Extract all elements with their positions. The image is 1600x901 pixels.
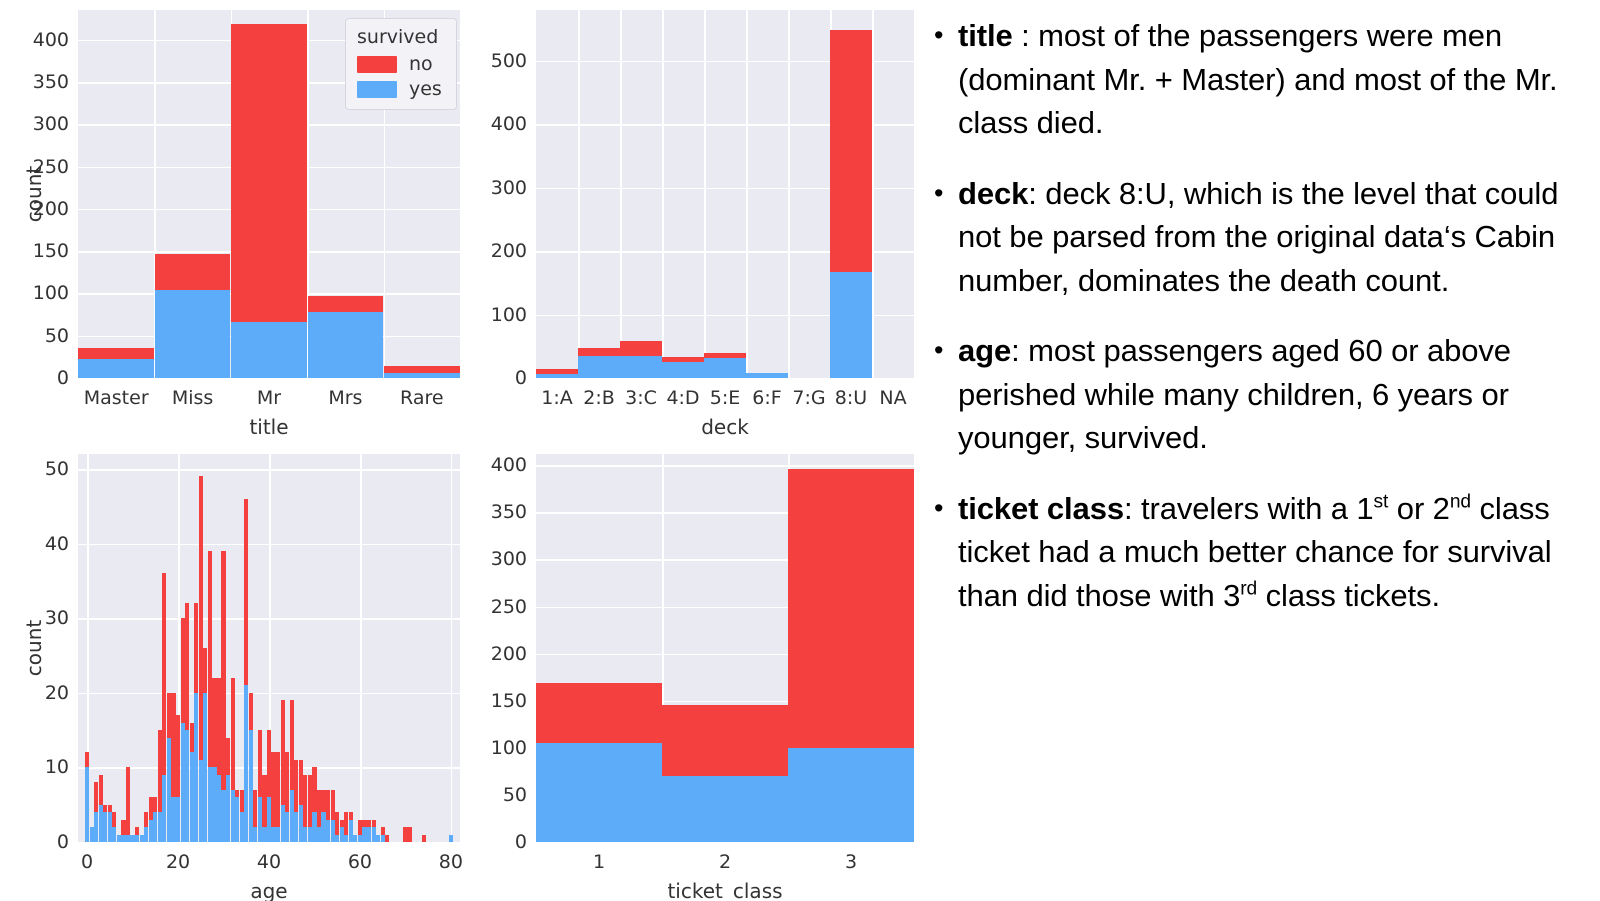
bar-segment-yes <box>384 373 460 378</box>
bar-segment-yes <box>244 685 248 842</box>
bar-segment-no <box>312 767 316 812</box>
bar-segment-no <box>208 551 212 767</box>
bar-segment-yes <box>126 835 130 842</box>
y-tick-label: 0 <box>57 831 69 853</box>
bar-segment-yes <box>231 790 235 842</box>
bar-segment-no <box>162 573 166 774</box>
bar-segment-yes <box>271 827 275 842</box>
bar-segment-yes <box>190 752 194 842</box>
bar-segment-no <box>704 353 746 358</box>
histogram-bar[interactable] <box>212 678 216 842</box>
histogram-bar[interactable] <box>153 797 157 842</box>
bar-segment-no <box>290 700 294 790</box>
bar-segment-no <box>190 723 194 753</box>
bar-segment-yes <box>199 760 203 842</box>
bar-ticket_class-2[interactable] <box>662 705 788 842</box>
bar-segment-yes <box>203 693 207 842</box>
bar-segment-yes <box>358 835 362 842</box>
bar-segment-yes <box>788 748 914 842</box>
bar-segment-no <box>662 705 788 776</box>
chart-panel-age: 01020304050020406080agecount <box>0 430 470 901</box>
histogram-bar[interactable] <box>344 812 348 842</box>
bar-segment-no <box>294 760 298 812</box>
bar-segment-yes <box>121 835 125 842</box>
bullet-text-title: title : most of the passengers were men … <box>958 14 1592 145</box>
histogram-bar[interactable] <box>140 835 144 842</box>
bar-segment-no <box>158 730 162 812</box>
bar-segment-no <box>662 357 704 362</box>
bar-segment-no <box>194 603 198 693</box>
histogram-bar[interactable] <box>121 820 125 842</box>
bar-segment-yes <box>704 358 746 378</box>
bar-segment-yes <box>303 827 307 842</box>
bar-segment-yes <box>90 827 94 842</box>
histogram-bar[interactable] <box>317 790 321 842</box>
bar-segment-yes <box>830 272 872 378</box>
y-tick-label: 0 <box>515 367 527 389</box>
histogram-bar[interactable] <box>349 812 353 842</box>
histogram-bar[interactable] <box>299 760 303 842</box>
bar-segment-yes <box>258 797 262 842</box>
histogram-bar[interactable] <box>267 730 271 842</box>
bar-segment-no <box>536 683 662 743</box>
x-tick-label: 3 <box>788 851 914 873</box>
bar-segment-no <box>321 790 325 812</box>
legend-swatch-no <box>357 56 397 73</box>
y-tick-label: 50 <box>503 784 527 806</box>
bar-segment-yes <box>226 775 230 842</box>
bar-segment-no <box>149 797 153 819</box>
y-tick-label: 300 <box>491 548 527 570</box>
histogram-bar[interactable] <box>181 618 185 842</box>
bar-segment-yes <box>326 820 330 842</box>
bar-deck-6:F[interactable] <box>746 373 788 378</box>
bar-segment-yes <box>99 805 103 842</box>
bullet-item-ticket-class: • ticket class: travelers with a 1st or … <box>930 487 1592 618</box>
bullet-sep-title: : <box>1013 18 1039 53</box>
x-tick-label: NA <box>872 387 914 409</box>
histogram-bar[interactable] <box>199 476 203 842</box>
legend-entry-yes[interactable]: yes <box>357 78 445 100</box>
histogram-bar[interactable] <box>303 775 307 842</box>
bar-segment-no <box>217 678 221 775</box>
gridline-vertical <box>662 10 664 378</box>
bar-segment-yes <box>449 835 453 842</box>
bar-segment-yes <box>176 797 180 842</box>
histogram-bar[interactable] <box>358 820 362 842</box>
plot-area-deck <box>536 10 914 378</box>
bar-segment-yes <box>108 812 112 842</box>
histogram-bar[interactable] <box>403 827 407 842</box>
x-tick-label: Rare <box>384 387 460 409</box>
bar-segment-no <box>344 812 348 834</box>
bullet-item-title: • title : most of the passengers were me… <box>930 14 1592 145</box>
bar-deck-4:D[interactable] <box>662 357 704 378</box>
gridline-vertical <box>578 10 580 378</box>
bar-segment-yes <box>290 790 294 842</box>
legend-survived: survived no yes <box>345 18 457 110</box>
bar-segment-no <box>203 648 207 693</box>
x-tick-label: 0 <box>57 851 117 873</box>
histogram-bar[interactable] <box>144 812 148 842</box>
bar-segment-no <box>231 24 307 322</box>
chart-panel-ticket-class: 050100150200250300350400123ticket_class <box>470 430 920 901</box>
bar-deck-3:C[interactable] <box>620 341 662 378</box>
histogram-bar[interactable] <box>162 573 166 842</box>
bar-segment-yes <box>144 827 148 842</box>
bar-segment-yes <box>181 723 185 842</box>
bar-segment-yes <box>372 827 376 842</box>
bar-segment-yes <box>620 356 662 378</box>
plot-area-age <box>78 454 460 842</box>
bar-segment-no <box>372 820 376 827</box>
legend-entry-no[interactable]: no <box>357 53 445 75</box>
bullet-marker-icon: • <box>930 172 958 215</box>
histogram-bar[interactable] <box>326 790 330 842</box>
histogram-bar[interactable] <box>231 678 235 842</box>
bar-segment-no <box>155 254 231 290</box>
bar-segment-no <box>422 835 426 842</box>
bar-segment-no <box>326 790 330 820</box>
y-tick-label: 100 <box>491 304 527 326</box>
histogram-bar[interactable] <box>362 820 366 842</box>
bar-segment-yes <box>85 767 89 842</box>
gridline-vertical <box>872 10 874 378</box>
x-tick-label: 3:C <box>620 387 662 409</box>
x-tick-label: 8:U <box>830 387 872 409</box>
y-tick-label: 20 <box>45 682 69 704</box>
histogram-bar[interactable] <box>340 820 344 842</box>
bar-segment-no <box>103 805 107 812</box>
histogram-bar[interactable] <box>176 715 180 842</box>
histogram-bar[interactable] <box>85 752 89 842</box>
y-tick-label: 300 <box>33 113 69 135</box>
bar-segment-yes <box>312 812 316 842</box>
histogram-bar[interactable] <box>240 790 244 842</box>
y-tick-label: 400 <box>491 454 527 476</box>
bar-segment-yes <box>158 812 162 842</box>
histogram-bar[interactable] <box>335 812 339 842</box>
bar-segment-yes <box>167 738 171 842</box>
bar-segment-no <box>167 693 171 738</box>
bar-deck-2:B[interactable] <box>578 348 620 378</box>
bar-title-Miss[interactable] <box>155 254 231 378</box>
bar-segment-no <box>258 730 262 797</box>
histogram-bar[interactable] <box>226 738 230 842</box>
y-tick-label: 200 <box>491 643 527 665</box>
bar-deck-5:E[interactable] <box>704 353 746 378</box>
histogram-bar[interactable] <box>167 693 171 842</box>
bar-segment-yes <box>362 827 366 842</box>
histogram-bar[interactable] <box>117 835 121 842</box>
bullet-sep-deck: : <box>1028 176 1045 211</box>
bar-segment-yes <box>249 730 253 842</box>
y-axis-label: count <box>22 164 46 224</box>
bar-deck-1:A[interactable] <box>536 368 578 378</box>
bar-segment-yes <box>149 820 153 842</box>
bar-segment-no <box>362 820 366 827</box>
histogram-bar[interactable] <box>185 603 189 842</box>
histogram-bar[interactable] <box>312 767 316 842</box>
bar-segment-yes <box>217 775 221 842</box>
bar-segment-yes <box>299 805 303 842</box>
bar-segment-yes <box>140 835 144 842</box>
bar-segment-no <box>126 767 130 834</box>
bar-segment-no <box>231 678 235 790</box>
bar-segment-no <box>99 775 103 805</box>
bar-segment-no <box>317 790 321 827</box>
bar-segment-no <box>144 812 148 827</box>
bar-segment-no <box>153 797 157 812</box>
x-tick-label: Master <box>78 387 154 409</box>
histogram-bar[interactable] <box>290 700 294 842</box>
bar-title-Rare[interactable] <box>384 366 460 378</box>
bar-segment-yes <box>185 730 189 842</box>
histogram-bar[interactable] <box>149 797 153 842</box>
y-axis-label: count <box>22 618 46 678</box>
bar-segment-no <box>358 820 362 835</box>
bar-segment-no <box>578 348 620 356</box>
histogram-bar[interactable] <box>203 648 207 842</box>
bar-segment-yes <box>317 827 321 842</box>
bar-segment-yes <box>536 743 662 842</box>
bar-segment-yes <box>117 835 121 842</box>
y-tick-label: 0 <box>515 831 527 853</box>
histogram-bar[interactable] <box>385 835 389 842</box>
bar-segment-no <box>244 499 248 686</box>
bar-segment-yes <box>367 827 371 842</box>
histogram-bar[interactable] <box>94 782 98 842</box>
histogram-bar[interactable] <box>235 790 239 842</box>
chart-panel-deck: 01002003004005001:A2:B3:C4:D5:E6:F7:G8:U… <box>470 0 920 430</box>
bar-segment-yes <box>331 820 335 842</box>
histogram-bar[interactable] <box>158 730 162 842</box>
bar-segment-no <box>620 341 662 356</box>
x-tick-label: Mrs <box>307 387 383 409</box>
histogram-bar[interactable] <box>190 723 194 842</box>
histogram-bar[interactable] <box>367 820 371 842</box>
histogram-bar[interactable] <box>285 752 289 842</box>
histogram-bar[interactable] <box>194 603 198 842</box>
bar-segment-no <box>226 738 230 775</box>
histogram-bar[interactable] <box>103 805 107 842</box>
bar-segment-no <box>331 790 335 820</box>
y-tick-label: 400 <box>491 113 527 135</box>
bar-deck-8:U[interactable] <box>830 30 872 378</box>
histogram-bar[interactable] <box>372 820 376 842</box>
histogram-bar[interactable] <box>217 678 221 842</box>
bar-segment-yes <box>335 835 339 842</box>
bullet-text-ticket-class: ticket class: travelers with a 1st or 2n… <box>958 487 1592 618</box>
bar-title-Master[interactable] <box>78 348 154 378</box>
histogram-bar[interactable] <box>262 775 266 842</box>
bar-segment-yes <box>253 827 257 842</box>
histogram-bar[interactable] <box>422 835 426 842</box>
bar-segment-yes <box>103 812 107 842</box>
bar-segment-yes <box>294 812 298 842</box>
x-tick-label: Mr <box>231 387 307 409</box>
bar-segment-no <box>308 296 384 312</box>
bullet-marker-icon: • <box>930 329 958 372</box>
bullet-item-age: • age: most passengers aged 60 or above … <box>930 329 1592 460</box>
y-tick-label: 150 <box>491 690 527 712</box>
bar-segment-yes <box>162 775 166 842</box>
histogram-bar[interactable] <box>130 835 134 842</box>
histogram-bar[interactable] <box>135 827 139 842</box>
histogram-bar[interactable] <box>449 835 453 842</box>
bar-segment-yes <box>746 373 788 378</box>
bar-segment-yes <box>267 797 271 842</box>
bar-segment-no <box>199 476 203 760</box>
bar-segment-no <box>121 820 125 835</box>
bar-segment-yes <box>308 827 312 842</box>
bar-segment-yes <box>381 835 385 842</box>
histogram-bar[interactable] <box>276 752 280 842</box>
bar-segment-yes <box>135 835 139 842</box>
histogram-bar[interactable] <box>408 827 412 842</box>
gridline-vertical <box>451 454 453 842</box>
y-tick-label: 0 <box>57 367 69 389</box>
x-tick-label: 6:F <box>746 387 788 409</box>
x-tick-label: 2:B <box>578 387 620 409</box>
bar-segment-no <box>271 752 275 827</box>
histogram-bar[interactable] <box>376 835 380 842</box>
x-tick-label: 60 <box>330 851 390 873</box>
x-tick-label: 40 <box>239 851 299 873</box>
histogram-bar[interactable] <box>99 775 103 842</box>
y-tick-label: 30 <box>45 607 69 629</box>
bullet-body-deck: deck 8:U, which is the level that could … <box>958 176 1558 298</box>
histogram-bar[interactable] <box>208 551 212 842</box>
bar-segment-yes <box>285 812 289 842</box>
bar-title-Mrs[interactable] <box>308 296 384 378</box>
bar-segment-no <box>171 693 175 797</box>
bullet-marker-icon: • <box>930 487 958 530</box>
y-tick-label: 350 <box>491 501 527 523</box>
bullet-body-title: most of the passengers were men (dominan… <box>958 18 1558 140</box>
bar-segment-yes <box>262 827 266 842</box>
bullet-sep-ticket-class: : <box>1124 491 1141 526</box>
histogram-bar[interactable] <box>308 775 312 842</box>
bar-segment-no <box>249 693 253 730</box>
legend-swatch-yes <box>357 81 397 98</box>
bar-segment-no <box>108 805 112 812</box>
bullet-body-age: most passengers aged 60 or above perishe… <box>958 333 1511 455</box>
bar-segment-no <box>235 790 239 797</box>
bar-segment-yes <box>240 812 244 842</box>
bar-segment-no <box>408 827 412 842</box>
gridline-horizontal <box>536 465 914 467</box>
gridline-vertical <box>620 10 622 378</box>
histogram-bar[interactable] <box>253 790 257 842</box>
bullet-text-deck: deck: deck 8:U, which is the level that … <box>958 172 1592 303</box>
histogram-bar[interactable] <box>271 752 275 842</box>
bar-segment-no <box>335 812 339 834</box>
histogram-bar[interactable] <box>221 551 225 842</box>
histogram-bar[interactable] <box>112 812 116 842</box>
bullet-lead-deck: deck <box>958 176 1028 211</box>
histogram-bar[interactable] <box>249 693 253 842</box>
bar-segment-yes <box>308 312 384 378</box>
bar-segment-no <box>135 827 139 834</box>
titanic-eda-figure: 050100150200250300350400MasterMissMrMrsR… <box>0 0 920 901</box>
bar-segment-no <box>185 603 189 730</box>
y-tick-label: 40 <box>45 533 69 555</box>
bar-segment-yes <box>662 362 704 378</box>
bar-segment-no <box>181 618 185 722</box>
bar-segment-no <box>536 369 578 374</box>
histogram-bar[interactable] <box>381 827 385 842</box>
bullet-lead-age: age <box>958 333 1011 368</box>
histogram-bar[interactable] <box>321 790 325 842</box>
y-tick-label: 10 <box>45 756 69 778</box>
y-tick-label: 100 <box>491 737 527 759</box>
y-tick-label: 200 <box>491 240 527 262</box>
bar-segment-no <box>299 760 303 805</box>
bar-segment-yes <box>208 767 212 842</box>
bar-segment-yes <box>276 827 280 842</box>
histogram-bar[interactable] <box>294 760 298 842</box>
bar-segment-yes <box>376 835 380 842</box>
bar-segment-no <box>403 827 407 842</box>
y-tick-label: 350 <box>33 71 69 93</box>
bar-title-Mr[interactable] <box>231 24 307 378</box>
bar-segment-no <box>830 30 872 272</box>
bar-segment-no <box>267 730 271 797</box>
bar-segment-yes <box>221 790 225 842</box>
bar-segment-no <box>367 820 371 827</box>
bar-segment-yes <box>578 356 620 378</box>
bar-segment-no <box>340 820 344 827</box>
bar-segment-no <box>385 835 389 842</box>
bar-segment-yes <box>112 827 116 842</box>
histogram-bar[interactable] <box>90 827 94 842</box>
y-tick-label: 100 <box>33 282 69 304</box>
bar-segment-yes <box>153 812 157 842</box>
histogram-bar[interactable] <box>353 835 357 842</box>
histogram-bar[interactable] <box>331 790 335 842</box>
bar-ticket_class-1[interactable] <box>536 683 662 842</box>
bar-segment-no <box>788 469 914 748</box>
bar-segment-yes <box>194 693 198 842</box>
bar-segment-no <box>112 812 116 827</box>
x-tick-label: 1 <box>536 851 662 873</box>
histogram-bar[interactable] <box>171 693 175 842</box>
histogram-bar[interactable] <box>126 767 130 842</box>
histogram-bar[interactable] <box>258 730 262 842</box>
bullet-lead-ticket-class: ticket class <box>958 491 1124 526</box>
bar-segment-no <box>176 715 180 797</box>
bar-segment-yes <box>78 359 154 378</box>
bar-segment-yes <box>281 805 285 842</box>
histogram-bar[interactable] <box>281 700 285 842</box>
bar-segment-yes <box>536 374 578 378</box>
gridline-vertical <box>746 10 748 378</box>
x-axis-label: age <box>78 879 460 901</box>
bar-segment-yes <box>94 812 98 842</box>
x-tick-label: 1:A <box>536 387 578 409</box>
histogram-bar[interactable] <box>244 499 248 842</box>
bar-ticket_class-3[interactable] <box>788 469 914 842</box>
x-tick-label: 5:E <box>704 387 746 409</box>
legend-title: survived <box>357 26 445 48</box>
bar-segment-no <box>281 700 285 804</box>
bar-segment-no <box>212 678 216 768</box>
histogram-bar[interactable] <box>108 805 112 842</box>
observations-list: • title : most of the passengers were me… <box>930 0 1600 901</box>
y-tick-label: 150 <box>33 240 69 262</box>
bar-segment-no <box>240 790 244 812</box>
